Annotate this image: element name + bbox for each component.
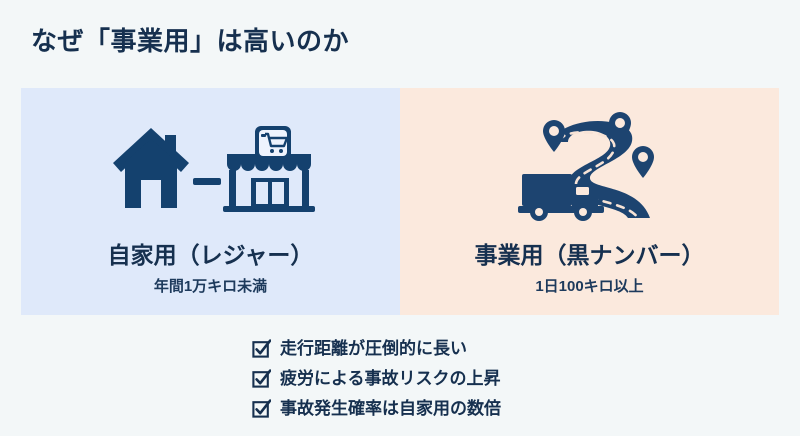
list-item: 疲労による事故リスクの上昇: [252, 366, 501, 390]
checkbox-checked-icon: [252, 369, 271, 388]
checkbox-checked-icon: [252, 339, 271, 358]
list-item: 事故発生確率は自家用の数倍: [252, 396, 501, 420]
slide-root: なぜ「事業用」は高いのか: [0, 0, 800, 436]
list-item: 走行距離が圧倒的に長い: [252, 336, 501, 360]
panel-commercial-use-subtitle: 1日100キロ以上: [535, 275, 643, 296]
panel-private-use: 自家用（レジャー） 年間1万キロ未満: [21, 88, 400, 315]
panel-commercial-use-title: 事業用（黒ナンバー）: [475, 242, 705, 268]
panel-commercial-use: 事業用（黒ナンバー） 1日100キロ以上: [400, 88, 779, 315]
checklist: 走行距離が圧倒的に長い 疲労による事故リスクの上昇 事故発生確率は自家用の数倍: [252, 336, 501, 420]
truck-and-route-icon: [510, 108, 670, 228]
list-item-label: 疲労による事故リスクの上昇: [280, 370, 501, 387]
list-item-label: 走行距離が圧倒的に長い: [280, 340, 467, 357]
checkbox-checked-icon: [252, 399, 271, 418]
page-title: なぜ「事業用」は高いのか: [31, 26, 349, 57]
house-and-store-icon: [103, 108, 318, 228]
panel-private-use-subtitle: 年間1万キロ未満: [154, 275, 267, 296]
comparison-panels: 自家用（レジャー） 年間1万キロ未満: [21, 88, 779, 315]
list-item-label: 事故発生確率は自家用の数倍: [280, 400, 501, 417]
panel-private-use-title: 自家用（レジャー）: [108, 242, 314, 268]
